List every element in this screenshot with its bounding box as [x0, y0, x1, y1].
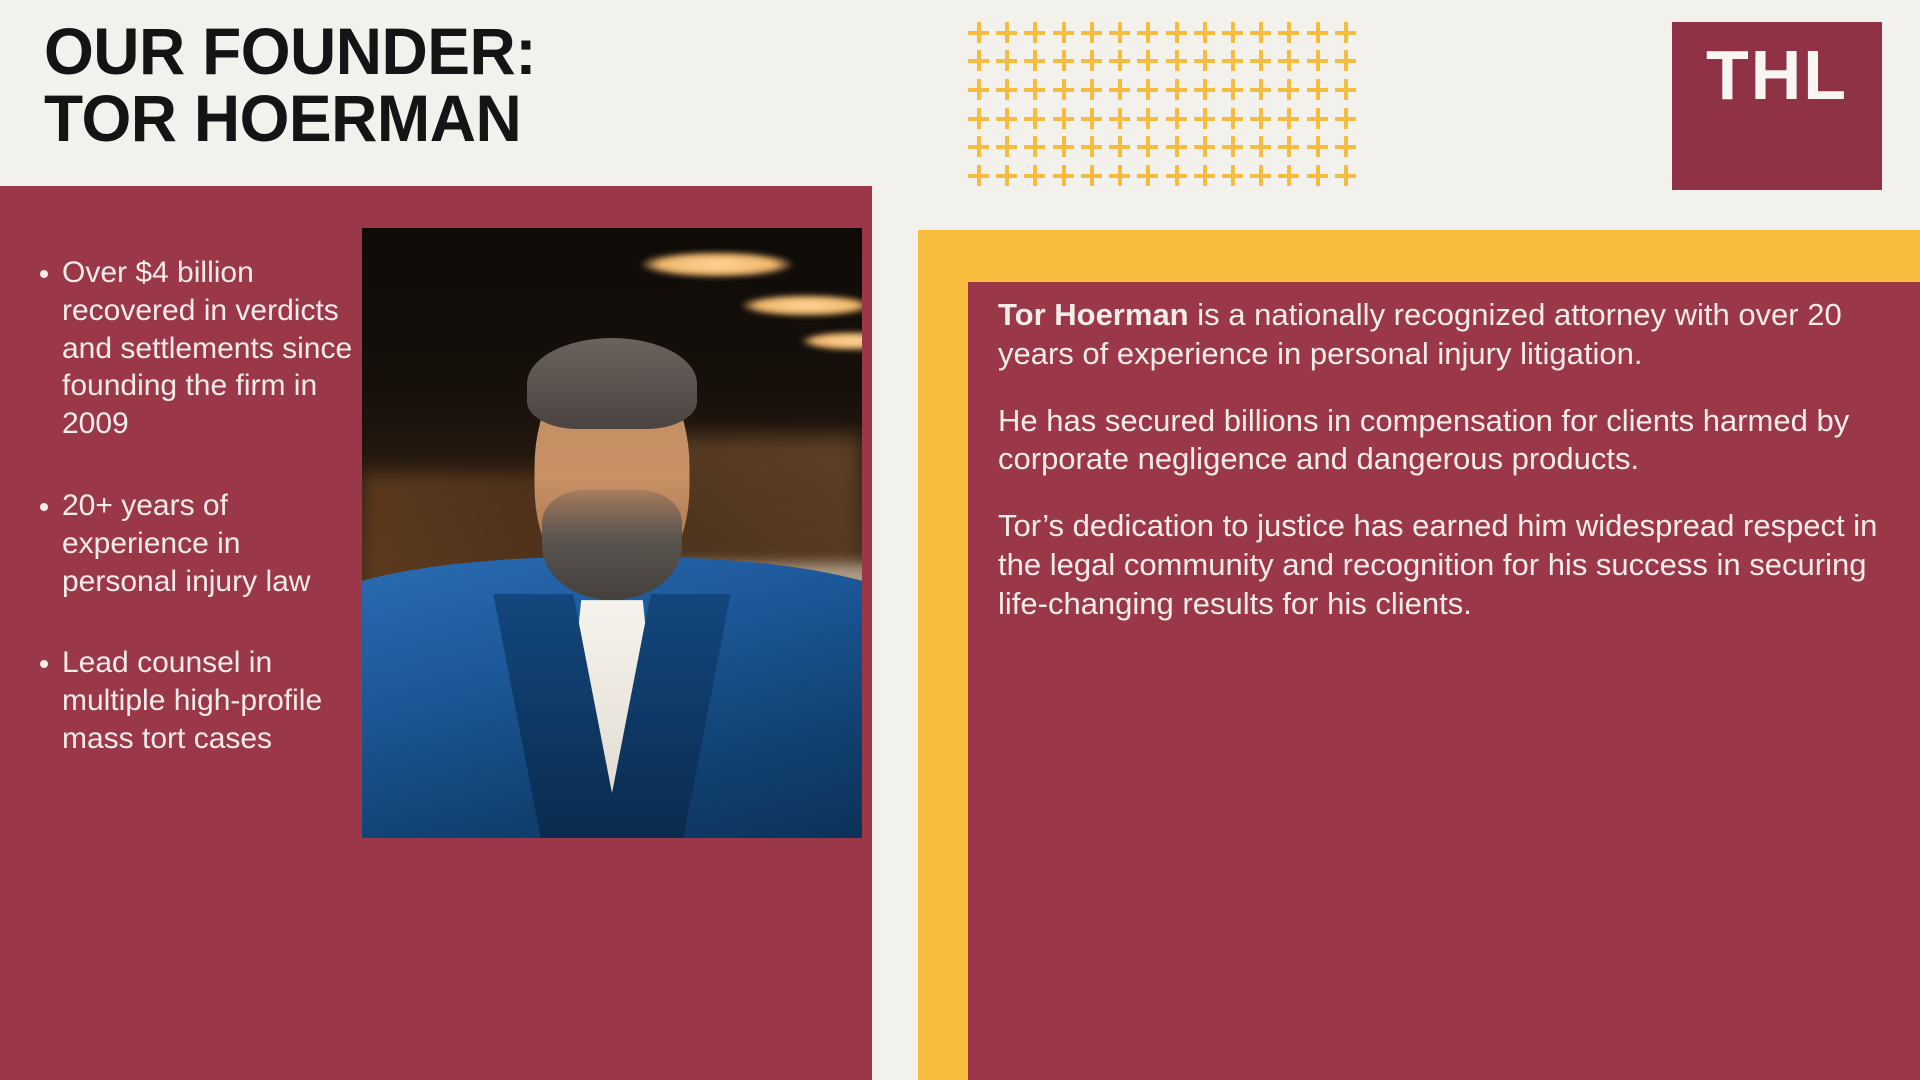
- plus-icon: [996, 79, 1017, 100]
- plus-icon: [1222, 136, 1243, 157]
- plus-icon: [1194, 22, 1215, 43]
- plus-icon: [1137, 165, 1158, 186]
- plus-icon: [1166, 50, 1187, 71]
- plus-icon: [1081, 108, 1102, 129]
- plus-icon: [1053, 50, 1074, 71]
- plus-icon: [1081, 79, 1102, 100]
- plus-icon: [1307, 165, 1328, 186]
- plus-icon: [1307, 22, 1328, 43]
- bio-paragraph: Tor’s dedication to justice has earned h…: [998, 507, 1900, 623]
- plus-icon: [1278, 108, 1299, 129]
- plus-icon: [1024, 165, 1045, 186]
- plus-icon: [1222, 79, 1243, 100]
- plus-icon: [1137, 108, 1158, 129]
- plus-icon: [1222, 108, 1243, 129]
- plus-icon: [1222, 50, 1243, 71]
- logo-label: THL: [1706, 40, 1848, 110]
- list-item: 20+ years of experience in personal inju…: [34, 487, 354, 600]
- founder-portrait-photo: [362, 228, 862, 838]
- plus-icon: [1335, 50, 1356, 71]
- founder-bio-card: Tor Hoerman is a nationally recognized a…: [968, 282, 1920, 1080]
- plus-icon: [1278, 136, 1299, 157]
- plus-icon: [1307, 108, 1328, 129]
- highlights-list: Over $4 billion recovered in verdicts an…: [34, 254, 354, 802]
- list-item: Over $4 billion recovered in verdicts an…: [34, 254, 354, 443]
- plus-icon: [968, 136, 989, 157]
- photo-ceiling-light: [642, 252, 792, 276]
- plus-icon: [1024, 22, 1045, 43]
- list-item: Lead counsel in multiple high-profile ma…: [34, 644, 354, 757]
- plus-icon: [1307, 50, 1328, 71]
- plus-icon: [1278, 22, 1299, 43]
- plus-icon: [1335, 79, 1356, 100]
- plus-icon: [968, 79, 989, 100]
- plus-icon: [1250, 165, 1271, 186]
- plus-icon: [1250, 22, 1271, 43]
- plus-icon: [968, 165, 989, 186]
- plus-icon: [996, 50, 1017, 71]
- plus-icon: [1250, 136, 1271, 157]
- plus-icon: [1307, 79, 1328, 100]
- plus-icon: [1335, 136, 1356, 157]
- plus-icon: [1166, 136, 1187, 157]
- plus-icon: [1024, 108, 1045, 129]
- plus-icon: [1053, 108, 1074, 129]
- photo-hair: [527, 338, 697, 430]
- bio-paragraph: Tor Hoerman is a nationally recognized a…: [998, 296, 1900, 374]
- plus-icon: [1335, 165, 1356, 186]
- plus-icon: [1166, 108, 1187, 129]
- plus-icon: [1137, 136, 1158, 157]
- plus-icon: [1335, 22, 1356, 43]
- plus-icon: [1250, 108, 1271, 129]
- plus-icon: [1053, 79, 1074, 100]
- plus-icon: [1137, 22, 1158, 43]
- plus-icon: [996, 165, 1017, 186]
- plus-icon: [1137, 50, 1158, 71]
- plus-icon: [968, 22, 989, 43]
- plus-icon: [1278, 165, 1299, 186]
- thl-logo: THL: [1672, 22, 1882, 190]
- bio-lead-name: Tor Hoerman: [998, 297, 1189, 332]
- plus-icon: [968, 50, 989, 71]
- plus-icon: [1194, 165, 1215, 186]
- bio-paragraph: He has secured billions in compensation …: [998, 402, 1900, 480]
- plus-icon: [1053, 165, 1074, 186]
- plus-pattern-decoration: [968, 18, 1356, 190]
- plus-icon: [1024, 79, 1045, 100]
- plus-icon: [1222, 165, 1243, 186]
- plus-icon: [1053, 136, 1074, 157]
- plus-icon: [1081, 165, 1102, 186]
- plus-icon: [1166, 79, 1187, 100]
- plus-icon: [1194, 79, 1215, 100]
- plus-icon: [1109, 22, 1130, 43]
- plus-icon: [1109, 50, 1130, 71]
- plus-icon: [1222, 22, 1243, 43]
- plus-icon: [1081, 136, 1102, 157]
- plus-icon: [1081, 22, 1102, 43]
- plus-icon: [1109, 136, 1130, 157]
- plus-icon: [1166, 165, 1187, 186]
- plus-icon: [1307, 136, 1328, 157]
- plus-icon: [996, 108, 1017, 129]
- plus-icon: [996, 22, 1017, 43]
- plus-icon: [1024, 50, 1045, 71]
- plus-icon: [996, 136, 1017, 157]
- plus-icon: [1194, 50, 1215, 71]
- plus-icon: [1053, 22, 1074, 43]
- plus-icon: [1024, 136, 1045, 157]
- plus-icon: [1081, 50, 1102, 71]
- plus-icon: [1194, 108, 1215, 129]
- plus-icon: [1137, 79, 1158, 100]
- plus-icon: [1109, 108, 1130, 129]
- plus-icon: [1109, 165, 1130, 186]
- plus-icon: [1335, 108, 1356, 129]
- photo-beard: [542, 490, 682, 600]
- plus-icon: [1250, 50, 1271, 71]
- slide-root: OUR FOUNDER: TOR HOERMAN THL Over $4 bil…: [0, 0, 1920, 1080]
- plus-icon: [1278, 50, 1299, 71]
- plus-icon: [1250, 79, 1271, 100]
- plus-icon: [1109, 79, 1130, 100]
- plus-icon: [1166, 22, 1187, 43]
- plus-icon: [1278, 79, 1299, 100]
- bio-paragraphs: Tor Hoerman is a nationally recognized a…: [998, 296, 1900, 651]
- plus-icon: [968, 108, 989, 129]
- plus-icon: [1194, 136, 1215, 157]
- page-title: OUR FOUNDER: TOR HOERMAN: [44, 18, 917, 153]
